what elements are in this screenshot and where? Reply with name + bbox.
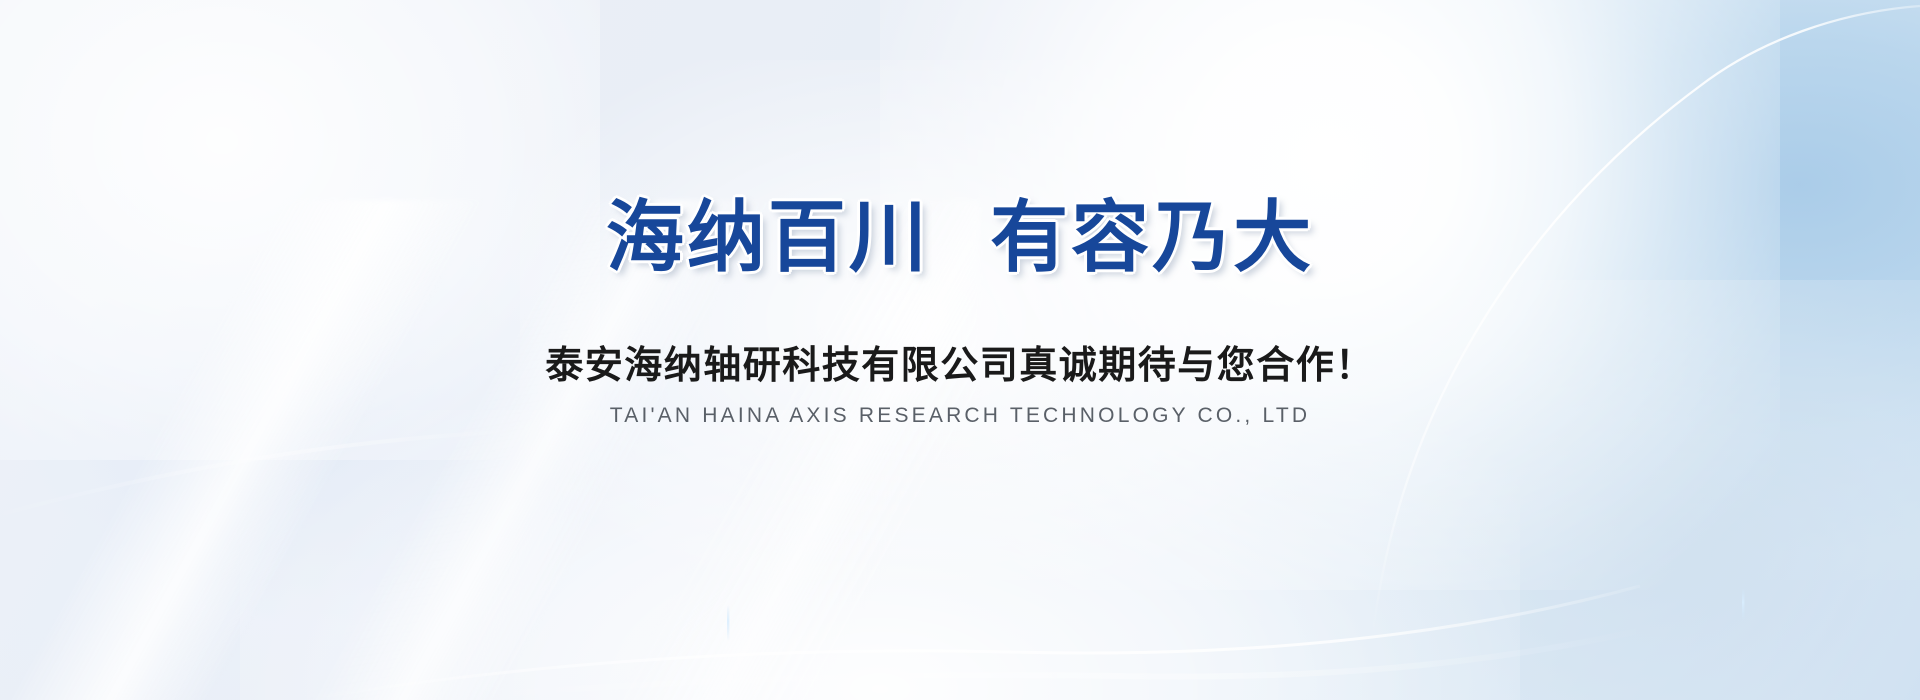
banner-content: 海纳百川 有容乃大 泰安海纳轴研科技有限公司真诚期待与您合作！ TAI'AN H…: [0, 0, 1920, 700]
banner-headline: 海纳百川 有容乃大: [606, 196, 1314, 280]
banner-subtitle-chinese: 泰安海纳轴研科技有限公司真诚期待与您合作！: [545, 334, 1375, 389]
banner-subtitle-english: TAI'AN HAINA AXIS RESEARCH TECHNOLOGY CO…: [610, 404, 1310, 428]
hero-banner: 海纳百川 有容乃大 泰安海纳轴研科技有限公司真诚期待与您合作！ TAI'AN H…: [0, 0, 1920, 700]
